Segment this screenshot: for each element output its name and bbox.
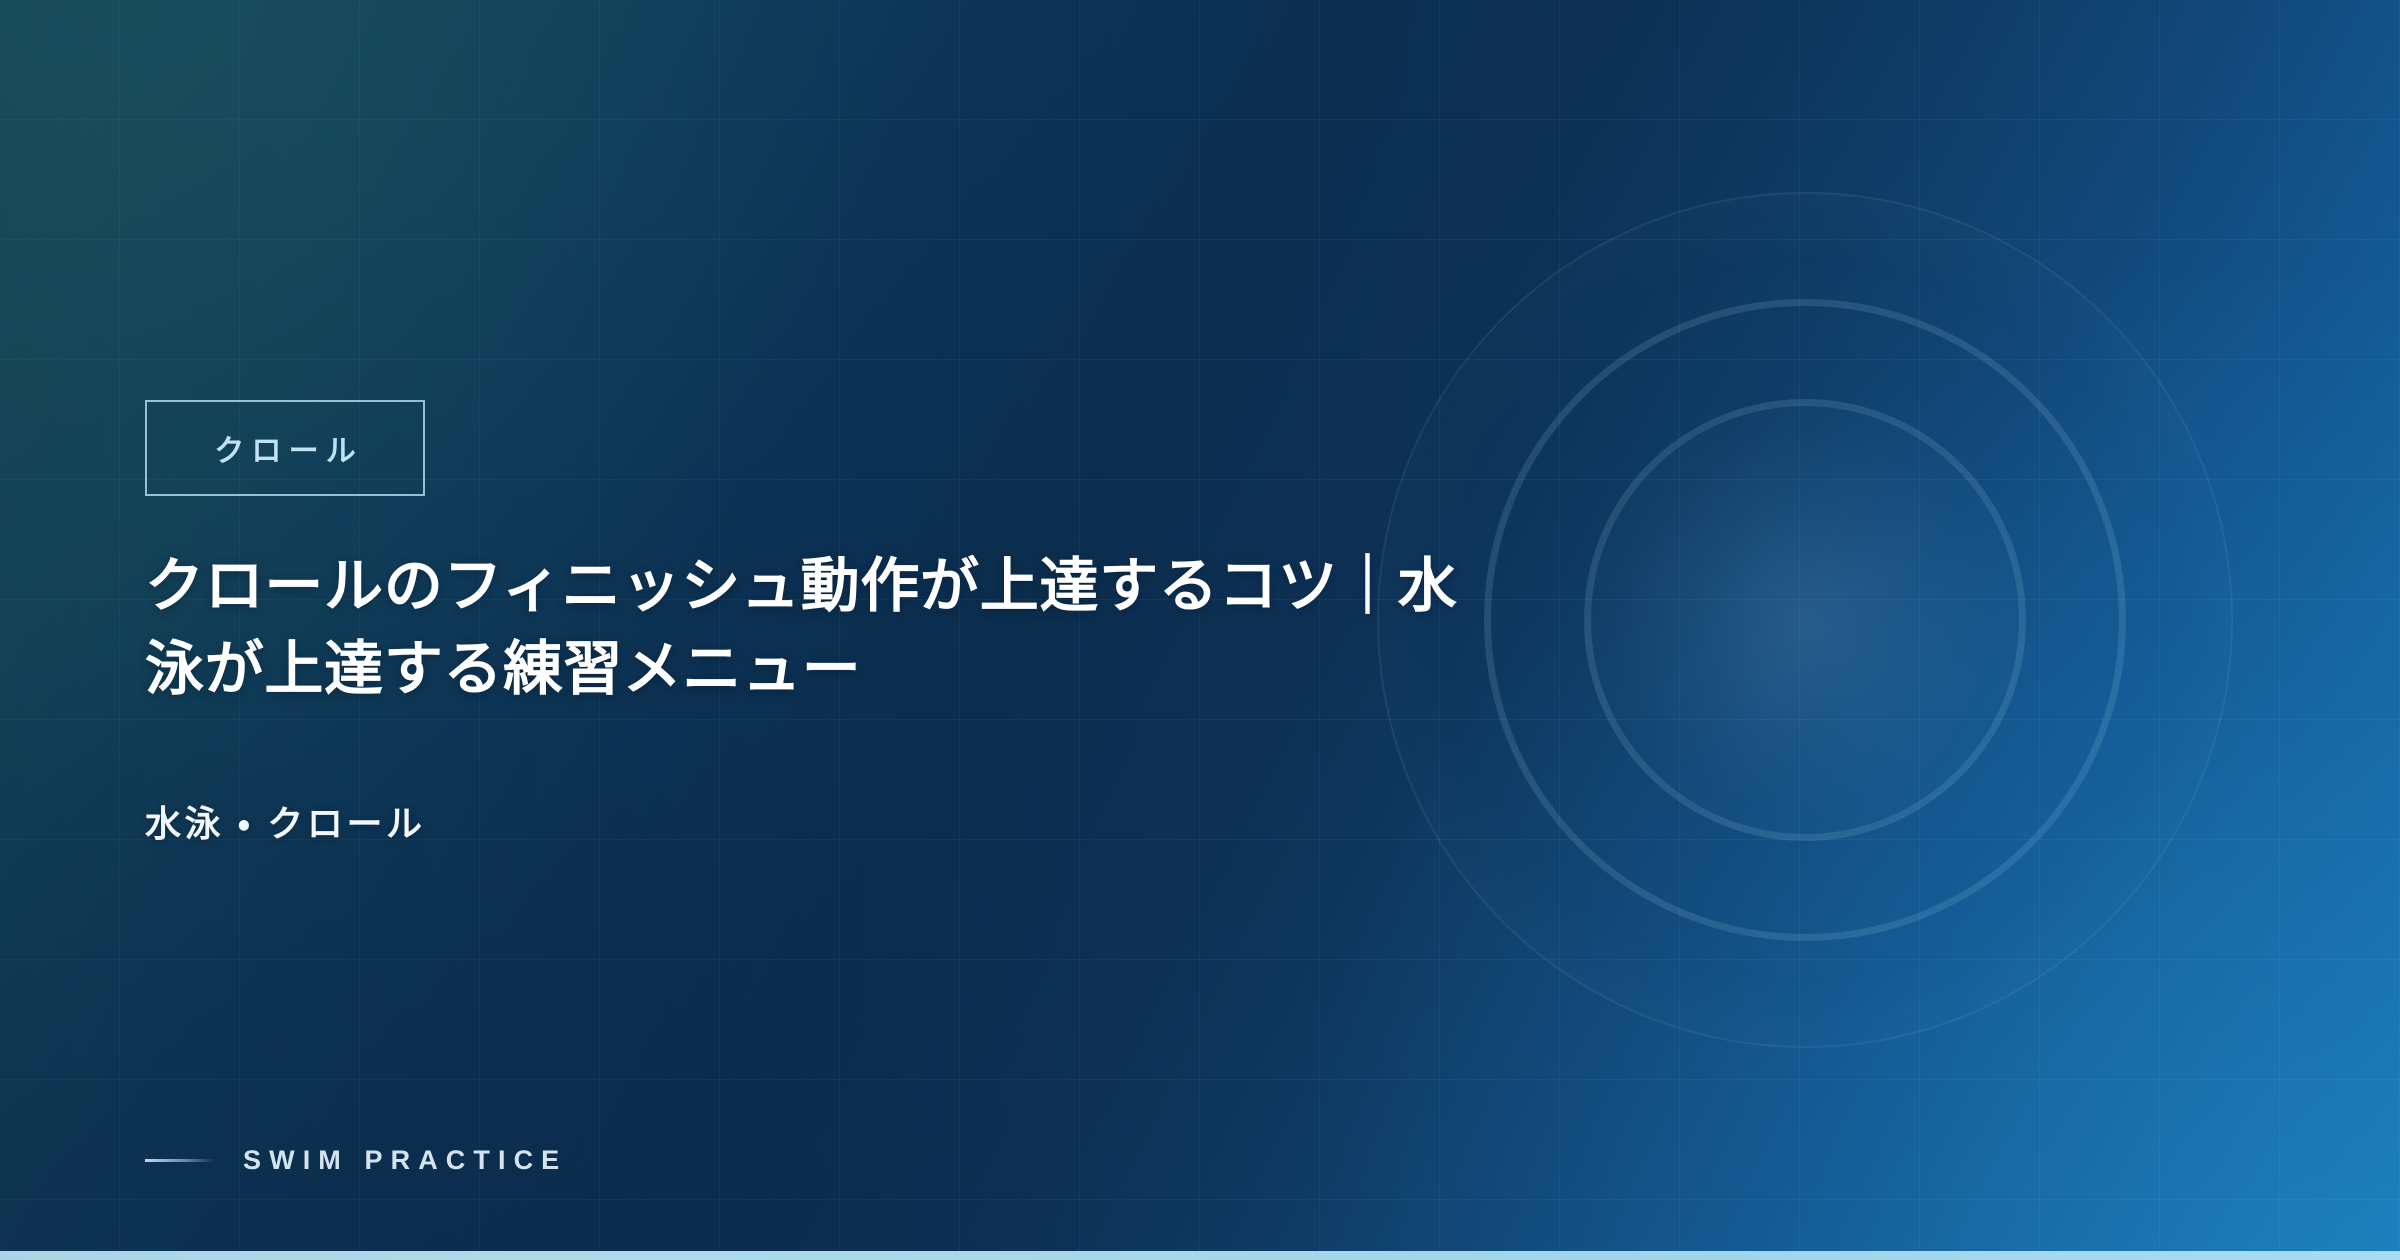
category-badge[interactable]: クロール: [145, 400, 425, 496]
brand-label: SWIM PRACTICE: [243, 1145, 567, 1176]
brand-rule-line: [145, 1159, 215, 1162]
hero-banner: クロール クロールのフィニッシュ動作が上達するコツ｜水泳が上達する練習メニュー …: [0, 0, 2400, 1260]
page-title: クロールのフィニッシュ動作が上達するコツ｜水泳が上達する練習メニュー: [145, 545, 1485, 710]
category-badge-label: クロール: [207, 426, 363, 470]
subtitle-meta: 水泳 ・ クロール: [145, 795, 426, 847]
brand-footer: SWIM PRACTICE: [145, 1145, 567, 1176]
hero-content: クロール クロールのフィニッシュ動作が上達するコツ｜水泳が上達する練習メニュー …: [145, 0, 1645, 1260]
bottom-accent-bar: [0, 1251, 2400, 1260]
